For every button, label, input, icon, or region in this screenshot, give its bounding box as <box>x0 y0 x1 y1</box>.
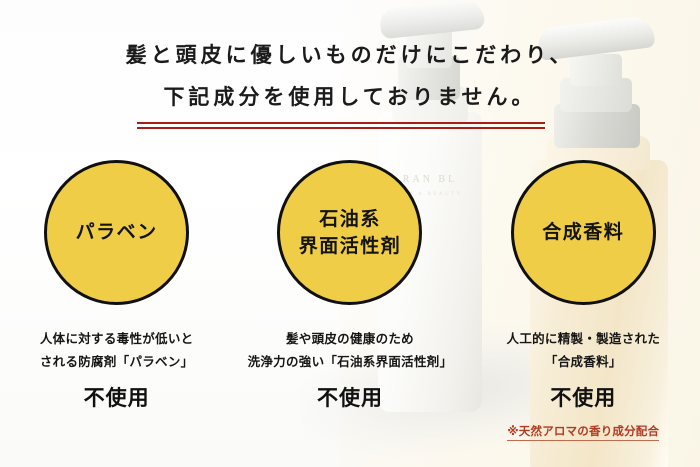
headline-block: 髪と頭皮に優しいものだけにこだわり、 下記成分を使用しておりません。 <box>0 34 700 118</box>
ingredient-column-paraben: パラベン 人体に対する毒性が低いと される防腐剤「パラベン」 不使用 <box>0 160 233 460</box>
ingredient-column-petroleum-surfactant: 石油系 界面活性剤 髪や頭皮の健康のため 洗浄力の強い「石油系界面活性剤」 不使… <box>233 160 466 460</box>
promo-poster: RAN BL FOR A BEAUTY 髪と頭皮に優しいものだけにこだわり、 下… <box>0 0 700 467</box>
verdict-paraben: 不使用 <box>84 382 150 412</box>
circle-label-synthetic-fragrance: 合成香料 <box>542 219 624 246</box>
verdict-petroleum-surfactant: 不使用 <box>317 382 383 412</box>
ingredient-columns: パラベン 人体に対する毒性が低いと される防腐剤「パラベン」 不使用 石油系 界… <box>0 160 700 460</box>
footnote-natural-aroma: ※天然アロマの香り成分配合 <box>507 424 659 441</box>
ingredient-circle-paraben: パラベン <box>44 160 189 305</box>
ingredient-circle-synthetic-fragrance: 合成香料 <box>511 160 656 305</box>
circle-label-paraben: パラベン <box>76 219 158 246</box>
headline-double-underline <box>137 122 545 129</box>
ingredient-circle-petroleum-surfactant: 石油系 界面活性剤 <box>277 160 422 305</box>
underline-rule-bottom <box>137 127 545 129</box>
caption-petroleum-surfactant: 髪や頭皮の健康のため 洗浄力の強い「石油系界面活性剤」 <box>248 327 453 373</box>
underline-rule-top <box>137 122 545 124</box>
ingredient-column-synthetic-fragrance: 合成香料 人工的に精製・製造された 「合成香料」 不使用 ※天然アロマの香り成分… <box>467 160 700 460</box>
circle-label-petroleum-surfactant: 石油系 界面活性剤 <box>299 206 402 260</box>
headline-line-1: 髪と頭皮に優しいものだけにこだわり、 <box>0 34 700 76</box>
caption-synthetic-fragrance: 人工的に精製・製造された 「合成香料」 <box>507 327 661 373</box>
verdict-synthetic-fragrance: 不使用 <box>550 382 616 412</box>
headline-line-2: 下記成分を使用しておりません。 <box>159 76 540 118</box>
caption-paraben: 人体に対する毒性が低いと される防腐剤「パラベン」 <box>40 327 194 373</box>
